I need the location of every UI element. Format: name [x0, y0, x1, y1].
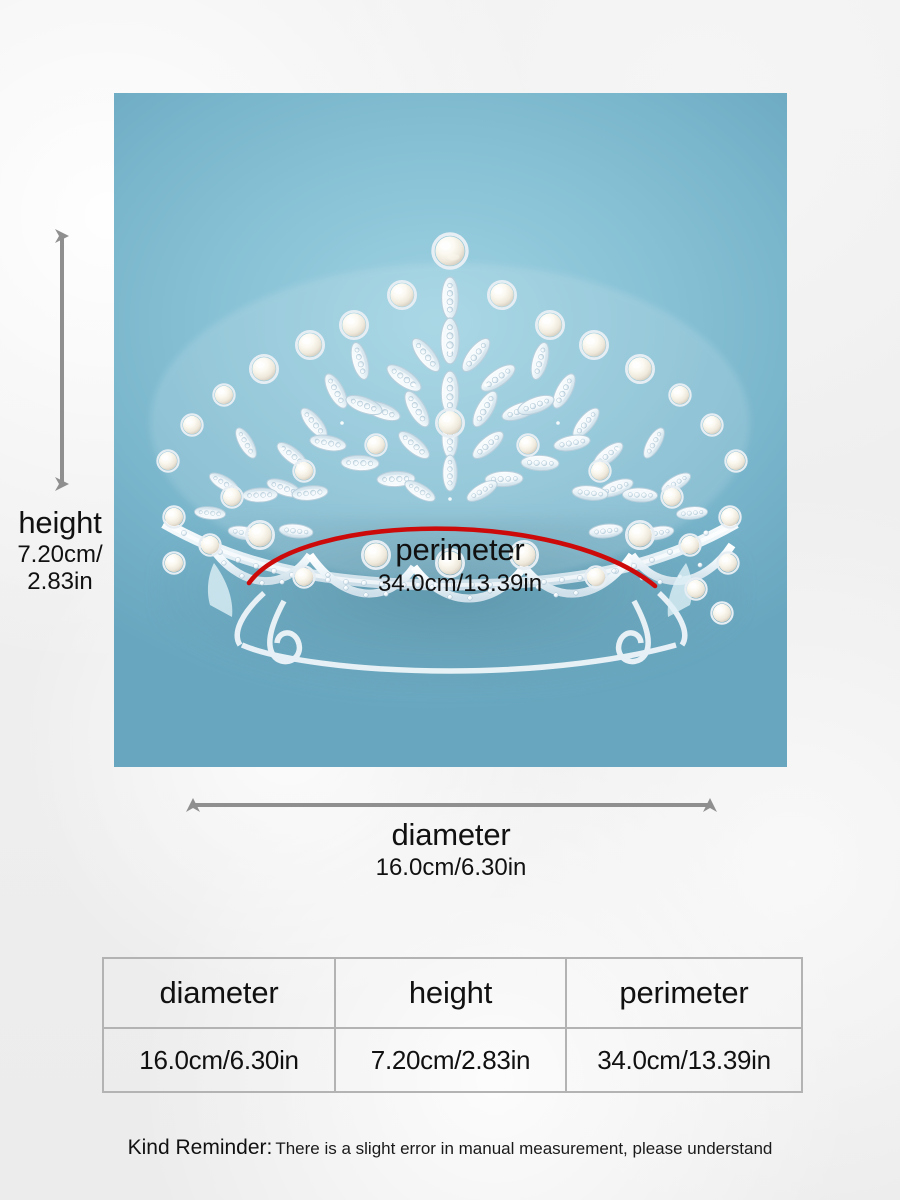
kind-reminder-title: Kind Reminder:	[128, 1136, 273, 1159]
diameter-annotation-value: 16.0cm/6.30in	[271, 855, 631, 881]
table-value-height: 7.20cm/2.83in	[335, 1028, 566, 1092]
table-value-diameter: 16.0cm/6.30in	[103, 1028, 335, 1092]
product-photo	[114, 93, 787, 767]
diameter-annotation: diameter 16.0cm/6.30in	[271, 818, 631, 881]
infographic-root: height 7.20cm/ 2.83in perimeter 34.0cm/1…	[0, 0, 900, 1200]
perimeter-annotation-label: perimeter	[280, 533, 640, 566]
table-header-height: height	[335, 958, 566, 1028]
table-value-perimeter: 34.0cm/13.39in	[566, 1028, 802, 1092]
table-header-diameter: diameter	[103, 958, 335, 1028]
height-annotation-value-in: 2.83in	[0, 569, 120, 595]
table-header-perimeter: perimeter	[566, 958, 802, 1028]
table-value-row: 16.0cm/6.30in 7.20cm/2.83in 34.0cm/13.39…	[103, 1028, 802, 1092]
perimeter-annotation-value: 34.0cm/13.39in	[280, 571, 640, 597]
diameter-annotation-label: diameter	[271, 818, 631, 851]
height-annotation: height 7.20cm/ 2.83in	[0, 506, 120, 595]
height-annotation-value-cm: 7.20cm/	[0, 542, 120, 568]
specification-table: diameter height perimeter 16.0cm/6.30in …	[102, 957, 803, 1093]
height-annotation-label: height	[0, 506, 120, 539]
table-header-row: diameter height perimeter	[103, 958, 802, 1028]
kind-reminder-body: There is a slight error in manual measur…	[275, 1139, 772, 1158]
tiara-illustration	[114, 93, 787, 767]
perimeter-annotation: perimeter 34.0cm/13.39in	[280, 533, 640, 597]
kind-reminder: Kind Reminder:There is a slight error in…	[0, 1136, 900, 1160]
